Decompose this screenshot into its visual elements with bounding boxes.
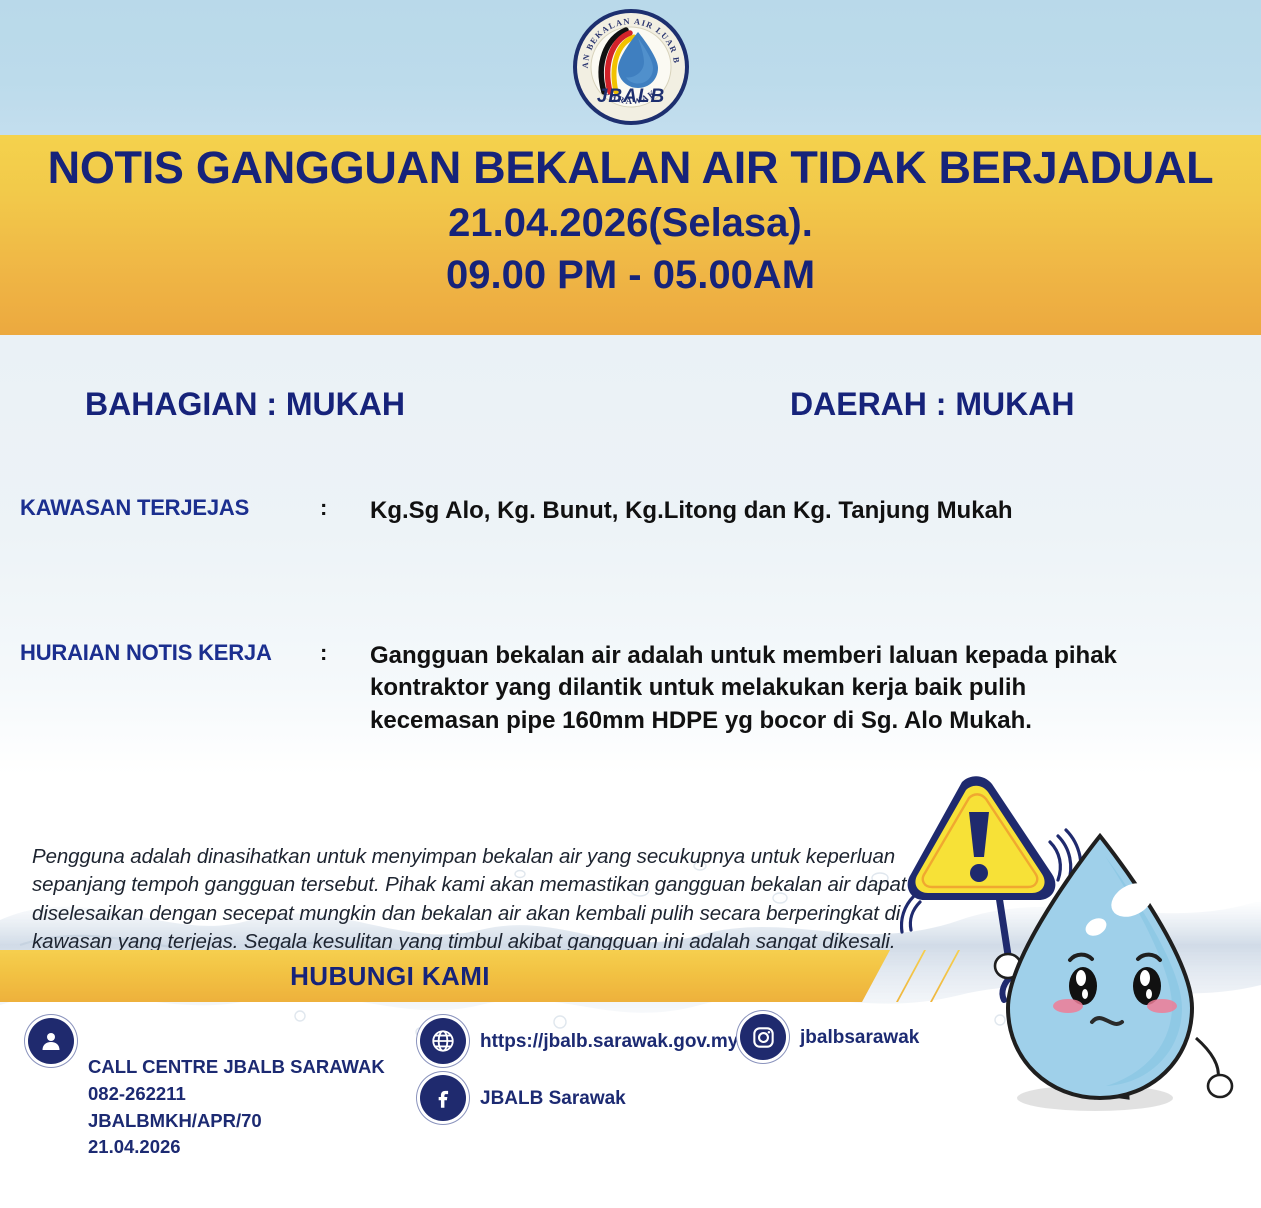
call-centre-phone: 082-262211 bbox=[88, 1081, 385, 1108]
droplet-shade bbox=[1105, 856, 1182, 1086]
legs bbox=[1080, 1072, 1128, 1098]
affected-area-label: KAWASAN TERJEJAS bbox=[20, 495, 320, 521]
instagram-icon bbox=[740, 1014, 786, 1060]
jbalb-logo: JABATAN BEKALAN AIR LUAR BANDAR SARAWAK … bbox=[570, 6, 692, 128]
contact-bar: HUBUNGI KAMI bbox=[0, 950, 890, 1002]
droplet-face bbox=[1053, 955, 1177, 1024]
call-centre-reference: JBALBMKH/APR/70 bbox=[88, 1108, 385, 1135]
contact-instagram[interactable]: jbalbsarawak bbox=[740, 1014, 919, 1060]
motion-lines bbox=[902, 830, 1082, 932]
right-hand bbox=[1208, 1075, 1232, 1097]
header-strip: JABATAN BEKALAN AIR LUAR BANDAR SARAWAK … bbox=[0, 0, 1261, 135]
facebook-icon bbox=[420, 1075, 466, 1121]
left-arm bbox=[1018, 976, 1062, 1014]
work-description-colon: : bbox=[320, 640, 370, 666]
warning-sign-icon bbox=[908, 776, 1056, 900]
call-centre-details: CALL CENTRE JBALB SARAWAK 082-262211 JBA… bbox=[88, 1054, 385, 1161]
contact-website[interactable]: https://jbalb.sarawak.gov.my/ bbox=[420, 1018, 744, 1064]
contact-bar-title: HUBUNGI KAMI bbox=[290, 961, 490, 992]
globe-icon bbox=[420, 1018, 466, 1064]
eyebrow-left bbox=[1070, 955, 1092, 960]
droplet-body bbox=[1008, 836, 1192, 1098]
work-description-value: Gangguan bekalan air adalah untuk member… bbox=[370, 640, 1140, 737]
bar-stripe-2 bbox=[930, 950, 960, 1002]
notice-time: 09.00 PM - 05.00AM bbox=[446, 250, 815, 300]
eyebrow-right bbox=[1138, 955, 1160, 960]
blush-left bbox=[1053, 999, 1083, 1013]
advisory-text: Pengguna adalah dinasihatkan untuk menyi… bbox=[32, 843, 912, 956]
mouth bbox=[1092, 1018, 1122, 1024]
website-url: https://jbalb.sarawak.gov.my/ bbox=[480, 1028, 744, 1056]
eye-left bbox=[1069, 967, 1097, 1005]
notice-poster: JABATAN BEKALAN AIR LUAR BANDAR SARAWAK … bbox=[0, 0, 1261, 1208]
division-row: BAHAGIAN : MUKAH DAERAH : MUKAH bbox=[0, 386, 1261, 432]
affected-area-colon: : bbox=[320, 495, 370, 521]
droplet-highlight-2 bbox=[1083, 915, 1110, 939]
work-description-label: HURAIAN NOTIS KERJA bbox=[20, 640, 320, 666]
facebook-handle: JBALB Sarawak bbox=[480, 1085, 626, 1113]
bahagian-label: BAHAGIAN : MUKAH bbox=[85, 386, 405, 423]
call-centre-date: 21.04.2026 bbox=[88, 1134, 385, 1161]
work-description-field: HURAIAN NOTIS KERJA : Gangguan bekalan a… bbox=[20, 640, 1140, 737]
affected-area-field: KAWASAN TERJEJAS : Kg.Sg Alo, Kg. Bunut,… bbox=[20, 495, 1013, 527]
bar-stripe-1 bbox=[896, 950, 926, 1002]
droplet-highlight-1 bbox=[1106, 876, 1159, 923]
instagram-handle: jbalbsarawak bbox=[800, 1024, 919, 1052]
blush-right bbox=[1147, 999, 1177, 1013]
person-icon bbox=[28, 1018, 74, 1064]
affected-area-value: Kg.Sg Alo, Kg. Bunut, Kg.Litong dan Kg. … bbox=[370, 495, 1013, 527]
jbalb-logo-icon: JABATAN BEKALAN AIR LUAR BANDAR SARAWAK … bbox=[570, 6, 692, 128]
mascot-shadow bbox=[1017, 1085, 1173, 1111]
notice-title: NOTIS GANGGUAN BEKALAN AIR TIDAK BERJADU… bbox=[48, 141, 1214, 196]
arm-grip bbox=[1002, 976, 1012, 1000]
right-arm bbox=[1196, 1038, 1218, 1078]
contact-bar-group: HUBUNGI KAMI bbox=[0, 950, 1000, 1002]
svg-text:JBALB: JBALB bbox=[596, 86, 664, 107]
call-centre-name: CALL CENTRE JBALB SARAWAK bbox=[88, 1054, 385, 1081]
contact-facebook[interactable]: JBALB Sarawak bbox=[420, 1075, 626, 1121]
contact-call-centre[interactable]: CALL CENTRE JBALB SARAWAK 082-262211 JBA… bbox=[28, 1018, 385, 1161]
notice-date: 21.04.2026(Selasa). bbox=[448, 198, 813, 248]
daerah-label: DAERAH : MUKAH bbox=[790, 386, 1074, 423]
title-banner: NOTIS GANGGUAN BEKALAN AIR TIDAK BERJADU… bbox=[0, 135, 1261, 335]
eye-right bbox=[1133, 967, 1161, 1005]
